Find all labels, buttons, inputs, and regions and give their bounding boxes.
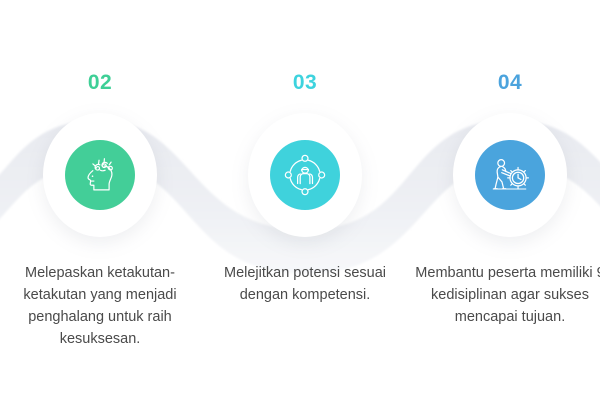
step-description-04: Membantu peserta memiliki 9 kedisiplinan… xyxy=(410,262,600,328)
infographic-canvas: 02 Melepaskan ketakuta xyxy=(0,0,600,402)
step-card-03[interactable]: 03 xyxy=(205,0,405,402)
step-description-03: Melejitkan potensi sesuai dengan kompete… xyxy=(205,262,405,306)
person-pushing-gear-clock-icon xyxy=(487,152,533,198)
step-description-02: Melepaskan ketakutan-ketakutan yang menj… xyxy=(0,262,200,350)
step-number-03: 03 xyxy=(205,72,405,93)
step-card-02[interactable]: 02 Melepaskan ketakuta xyxy=(0,0,200,402)
icon-badge-02[interactable] xyxy=(65,140,135,210)
icon-badge-03[interactable] xyxy=(270,140,340,210)
step-number-04: 04 xyxy=(410,72,600,93)
icon-badge-04[interactable] xyxy=(475,140,545,210)
step-number-02: 02 xyxy=(0,72,200,93)
head-with-swirls-icon xyxy=(77,152,123,198)
person-network-icon xyxy=(282,152,328,198)
step-card-04[interactable]: 04 xyxy=(410,0,600,402)
